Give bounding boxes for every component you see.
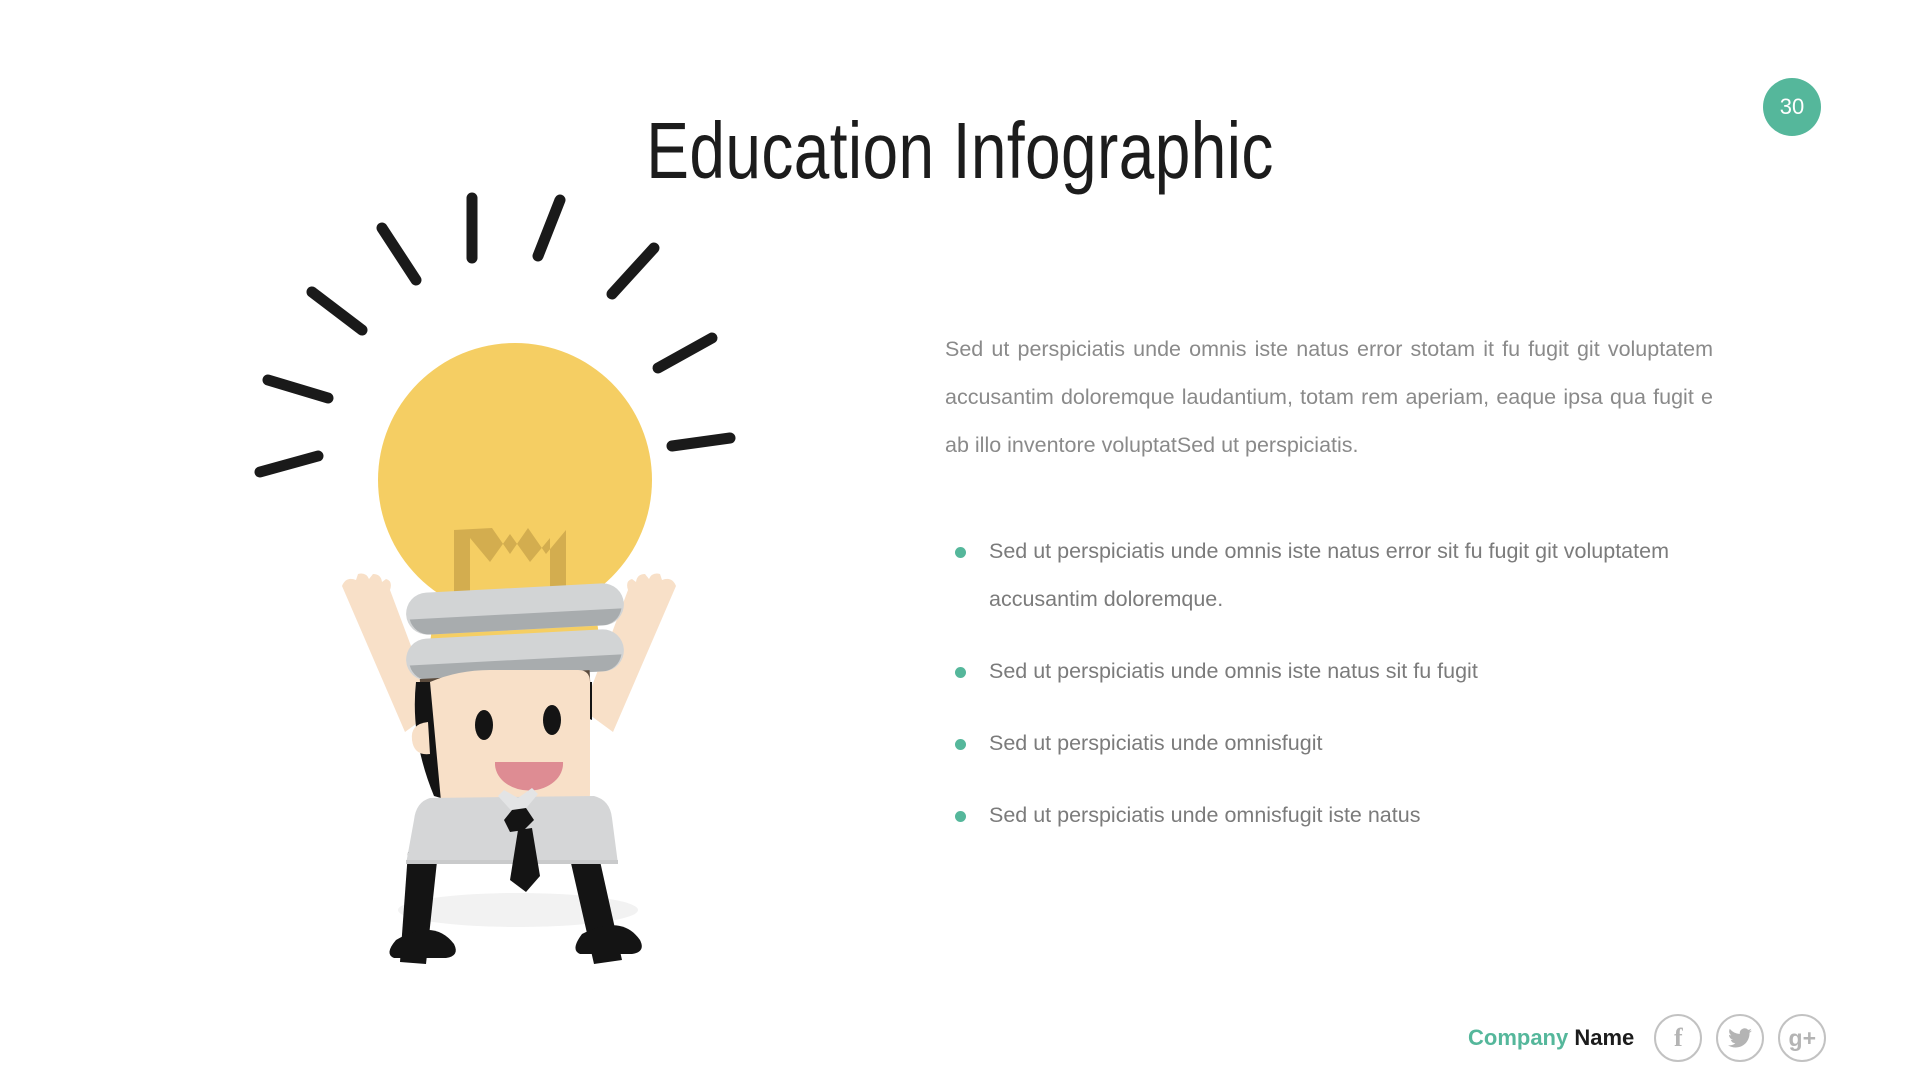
google-plus-glyph: g+: [1789, 1027, 1816, 1050]
list-item-label: Sed ut perspiciatis unde omnis iste natu…: [989, 539, 1669, 611]
feature-bullet-list: Sed ut perspiciatis unde omnis iste natu…: [945, 527, 1713, 839]
slide-canvas: Education Infographic 30: [0, 0, 1920, 1080]
list-item: Sed ut perspiciatis unde omnis iste natu…: [945, 527, 1713, 623]
list-item: Sed ut perspiciatis unde omnisfugit: [945, 719, 1713, 767]
slide-footer: Company Name f g+: [1468, 1010, 1826, 1066]
lead-paragraph: Sed ut perspiciatis unde omnis iste natu…: [945, 325, 1713, 469]
eye-left: [475, 710, 493, 740]
lightbulb-man-illustration: [230, 190, 830, 980]
brand-second-word: Name: [1574, 1025, 1634, 1050]
bullet-dot-icon: [955, 739, 966, 750]
brand-label: Company Name: [1468, 1025, 1634, 1051]
twitter-bird-glyph: [1728, 1028, 1752, 1048]
list-item-label: Sed ut perspiciatis unde omnis iste natu…: [989, 659, 1478, 683]
eye-right: [543, 705, 561, 735]
list-item-label: Sed ut perspiciatis unde omnisfugit iste…: [989, 803, 1420, 827]
list-item-label: Sed ut perspiciatis unde omnisfugit: [989, 731, 1322, 755]
list-item: Sed ut perspiciatis unde omnisfugit iste…: [945, 791, 1713, 839]
page-title: Education Infographic: [192, 102, 1728, 200]
page-number-badge: 30: [1763, 78, 1821, 136]
bullet-dot-icon: [955, 547, 966, 558]
shoes: [389, 925, 641, 958]
brand-first-word: Company: [1468, 1025, 1568, 1050]
bullet-dot-icon: [955, 811, 966, 822]
facebook-icon[interactable]: f: [1654, 1014, 1702, 1062]
list-item: Sed ut perspiciatis unde omnis iste natu…: [945, 647, 1713, 695]
google-plus-icon[interactable]: g+: [1778, 1014, 1826, 1062]
bullet-dot-icon: [955, 667, 966, 678]
facebook-glyph: f: [1674, 1025, 1683, 1051]
twitter-icon[interactable]: [1716, 1014, 1764, 1062]
content-column: Sed ut perspiciatis unde omnis iste natu…: [945, 325, 1713, 839]
